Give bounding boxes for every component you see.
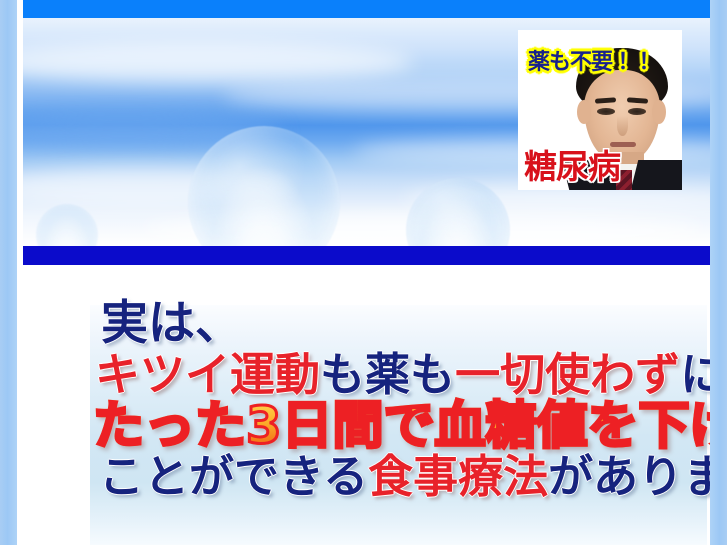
headline-line-1: 実は、 bbox=[101, 300, 710, 347]
eye-right bbox=[628, 108, 646, 115]
headline-segment: があります。 bbox=[548, 450, 710, 503]
portrait-photo-card: 薬も不要！！ 糖尿病 bbox=[518, 30, 682, 190]
water-droplet-icon bbox=[188, 126, 340, 246]
blue-divider-band bbox=[23, 246, 710, 265]
photo-bottom-caption: 糖尿病 bbox=[524, 140, 620, 188]
headline-segment: ことができる bbox=[99, 450, 368, 503]
photo-top-caption: 薬も不要！！ bbox=[528, 44, 654, 76]
headline-segment: 薬 bbox=[365, 348, 410, 401]
headline-line-2: キツイ運動も薬も一切使わずに、 bbox=[95, 352, 710, 397]
headline-segment: 一切使わず bbox=[455, 348, 680, 401]
headline-line-3: たった3日間で血糖値を下げる bbox=[93, 401, 710, 452]
water-droplet-icon bbox=[36, 204, 98, 246]
water-droplet-icon bbox=[406, 178, 510, 246]
nose-shape bbox=[617, 116, 628, 136]
headline-segment: 実は、 bbox=[101, 296, 242, 351]
headline-line-4: ことができる食事療法があります。 bbox=[99, 454, 710, 499]
top-blue-bar bbox=[23, 0, 710, 18]
headline-block: 実は、 キツイ運動も薬も一切使わずに、 たった3日間で血糖値を下げる ことができ… bbox=[90, 300, 710, 499]
headline-segment: も bbox=[410, 348, 455, 401]
headline-segment: 食事療法 bbox=[368, 450, 548, 503]
eye-left bbox=[597, 108, 615, 115]
cloud-streak-icon bbox=[143, 214, 703, 246]
ear-left bbox=[577, 100, 591, 124]
ear-right bbox=[652, 100, 666, 124]
page-content: 薬も不要！！ 糖尿病 実は、 キツイ運動も薬も一切使わずに、 たった3日間で血糖… bbox=[17, 0, 710, 545]
cloud-streak-icon bbox=[23, 168, 293, 206]
headline-segment: キツイ運動 bbox=[95, 348, 320, 401]
right-margin-strip bbox=[710, 0, 727, 545]
left-margin-strip bbox=[0, 0, 17, 545]
cloud-streak-icon bbox=[23, 42, 413, 82]
headline-segment: も bbox=[320, 348, 365, 401]
headline-segment: に、 bbox=[680, 348, 710, 401]
suit-lapel-right bbox=[630, 160, 682, 190]
cloud-streak-icon bbox=[23, 116, 283, 144]
hero-header-image: 薬も不要！！ 糖尿病 bbox=[23, 18, 710, 246]
page-root: 薬も不要！！ 糖尿病 実は、 キツイ運動も薬も一切使わずに、 たった3日間で血糖… bbox=[0, 0, 727, 545]
headline-segment: たった3日間で血糖値を下げる bbox=[93, 397, 710, 456]
